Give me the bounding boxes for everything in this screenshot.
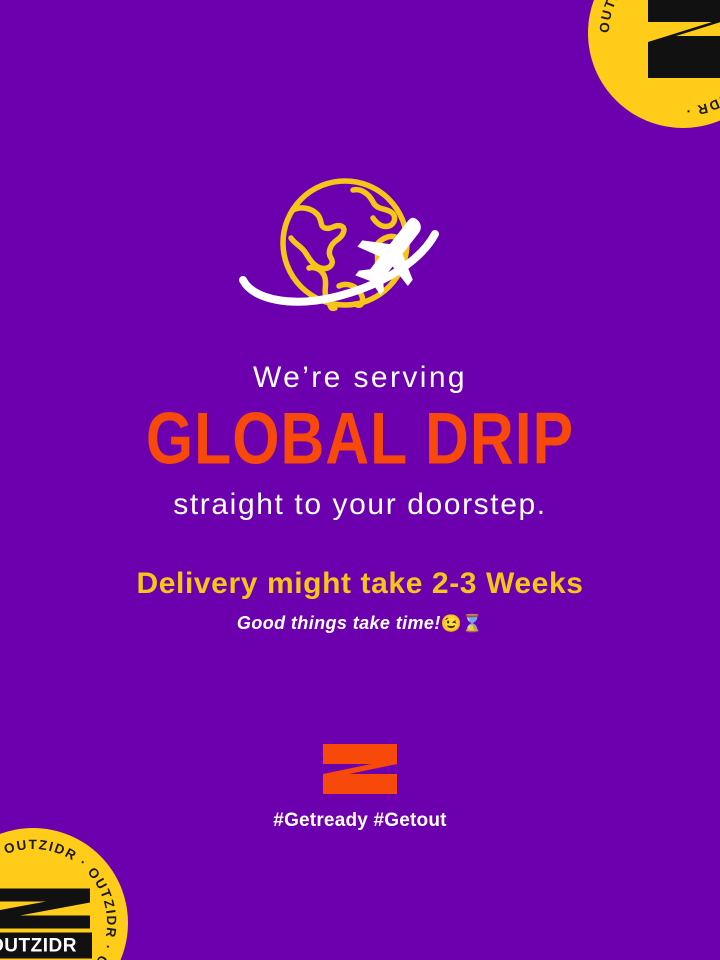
- globe-with-airplane-icon: [235, 168, 485, 333]
- subline-text: straight to your doorstep.: [0, 489, 720, 521]
- page-title: GLOBAL DRIP: [7, 402, 713, 477]
- copy-block: We’re serving GLOBAL DRIP straight to yo…: [0, 362, 720, 633]
- eyebrow-text: We’re serving: [0, 362, 720, 394]
- reassurance-emoji: 😉⌛: [441, 614, 483, 633]
- brand-badge-bottom-left: OUTZIDR · OUTZIDR · OUTZIDR · OUTZIDR · …: [0, 828, 128, 960]
- outzidr-z-logo: [319, 742, 401, 796]
- badge-z-glyph-bottom-left: [0, 888, 92, 930]
- badge-core-bottom-left: OUTZIDR: [0, 888, 92, 959]
- promo-poster: OUTZIDR · OUTZIDR · OUTZIDR · OUTZIDR ·: [0, 0, 720, 960]
- badge-brand-label: OUTZIDR: [0, 936, 77, 955]
- brand-badge-top-right: OUTZIDR · OUTZIDR · OUTZIDR · OUTZIDR ·: [588, 0, 720, 128]
- badge-brand-bar: OUTZIDR: [0, 933, 92, 959]
- footer-block: #Getready #Getout: [0, 742, 720, 832]
- delivery-notice: Delivery might take 2-3 Weeks: [0, 568, 720, 600]
- badge-z-glyph-top-right: [614, 0, 720, 108]
- reassurance-line: Good things take time!😉⌛: [0, 614, 720, 633]
- reassurance-text: Good things take time!: [237, 613, 441, 633]
